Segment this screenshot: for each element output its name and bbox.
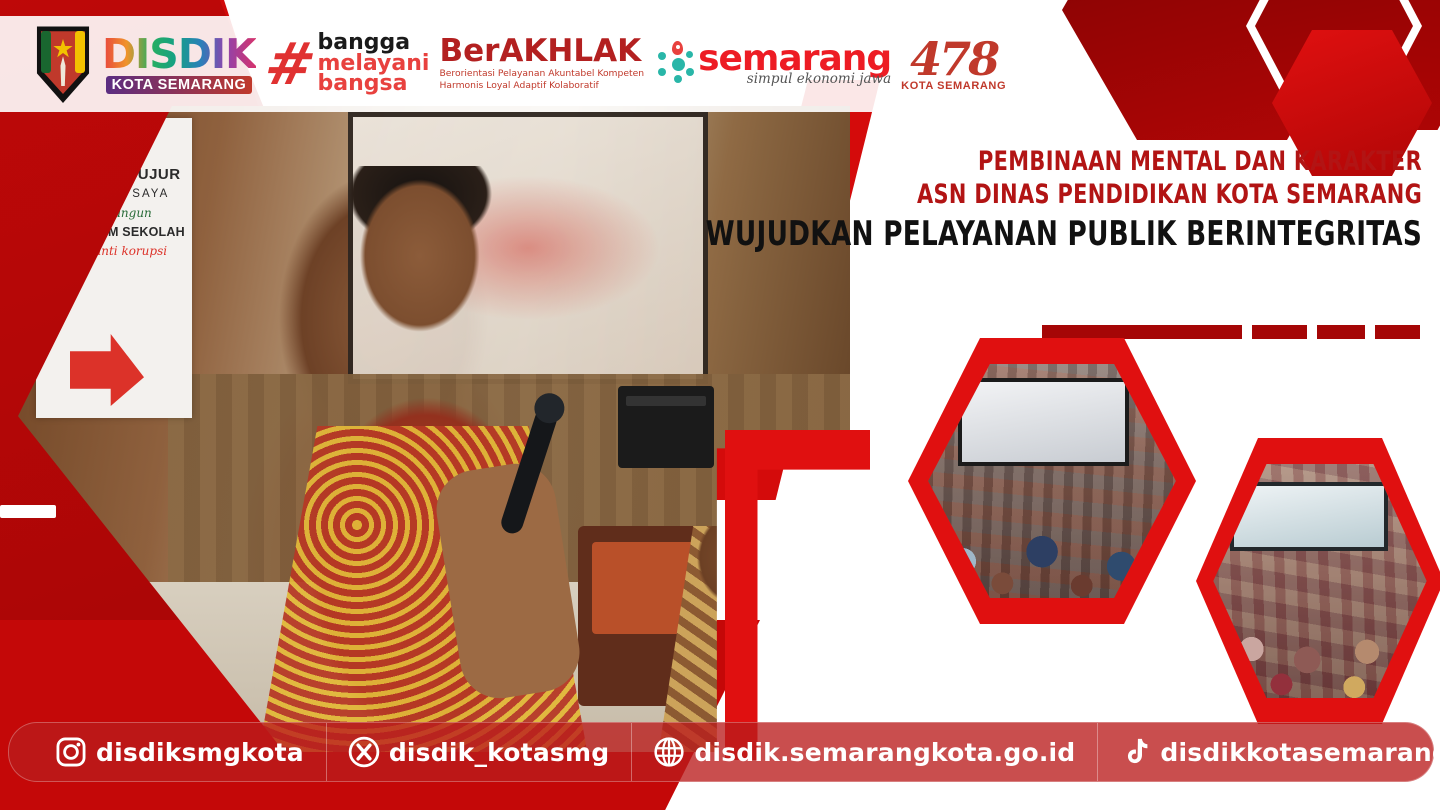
social-footer-bar: disdiksmgkota disdik_kotasmg disdik.sema… <box>8 722 1434 782</box>
footer-label-website: disdik.semarangkota.go.id <box>694 738 1075 767</box>
semarang-economy-logo: semarang simpul ekonomi jawa <box>656 41 891 87</box>
footer-item-x[interactable]: disdik_kotasmg <box>326 730 632 774</box>
berakhlak-logo: BerAKHLAK Berorientasi Pelayanan Akuntab… <box>439 36 644 93</box>
hash-icon: # <box>260 35 321 93</box>
berakhlak-sub-line-2: Harmonis Loyal Adaptif Kolaboratif <box>439 80 644 92</box>
dashed-divider <box>1020 325 1420 339</box>
anniversary-478-logo: 478 KOTA SEMARANG <box>901 36 1006 92</box>
disdik-logo: DISDIK KOTA SEMARANG <box>102 34 256 94</box>
title-line-3: WUJUDKAN PELAYANAN PUBLIK BERINTEGRITAS <box>706 214 1422 255</box>
title-block: PEMBINAAN MENTAL DAN KARAKTER ASN DINAS … <box>589 146 1422 255</box>
footer-label-instagram: disdiksmgkota <box>96 738 304 767</box>
instagram-icon <box>55 736 87 768</box>
title-line-2: ASN DINAS PENDIDIKAN KOTA SEMARANG <box>706 179 1422 212</box>
anniversary-subtitle: KOTA SEMARANG <box>901 80 1006 92</box>
bangga-melayani-bangsa-logo: # bangga melayani bangsa <box>266 33 430 96</box>
map-pin-icon <box>672 41 683 55</box>
bangga-line-3: bangsa <box>318 74 430 95</box>
header-logo-panel: DISDIK KOTA SEMARANG # bangga melayani b… <box>0 16 920 112</box>
network-node-icon <box>656 44 696 84</box>
semarang-crest-icon <box>32 25 94 103</box>
tiktok-icon <box>1119 736 1151 768</box>
footer-label-tiktok: disdikkotasemarang <box>1160 738 1440 767</box>
banner-arrow-graphic <box>70 334 144 406</box>
footer-item-tiktok[interactable]: disdikkotasemarang <box>1097 730 1440 774</box>
footer-item-website[interactable]: disdik.semarangkota.go.id <box>631 730 1097 774</box>
hex-photo-2 <box>1196 438 1440 724</box>
title-line-1: PEMBINAAN MENTAL DAN KARAKTER <box>706 146 1422 179</box>
globe-icon <box>653 736 685 768</box>
audio-speaker <box>618 386 714 468</box>
poster-canvas: SEKOLAH JUJUR SEKOLAH SAYA membangun EKO… <box>0 0 1440 810</box>
x-twitter-icon <box>348 736 380 768</box>
berakhlak-sub-line-1: Berorientasi Pelayanan Akuntabel Kompete… <box>439 68 644 80</box>
hex-photo-1 <box>908 338 1196 624</box>
disdik-wordmark: DISDIK <box>102 34 256 75</box>
disdik-subtitle: KOTA SEMARANG <box>106 76 253 94</box>
berakhlak-wordmark: BerAKHLAK <box>439 36 644 67</box>
footer-item-instagram[interactable]: disdiksmgkota <box>9 730 326 774</box>
white-dash-accent <box>0 505 56 518</box>
footer-label-x: disdik_kotasmg <box>389 738 610 767</box>
anniversary-number: 478 <box>901 36 1006 82</box>
